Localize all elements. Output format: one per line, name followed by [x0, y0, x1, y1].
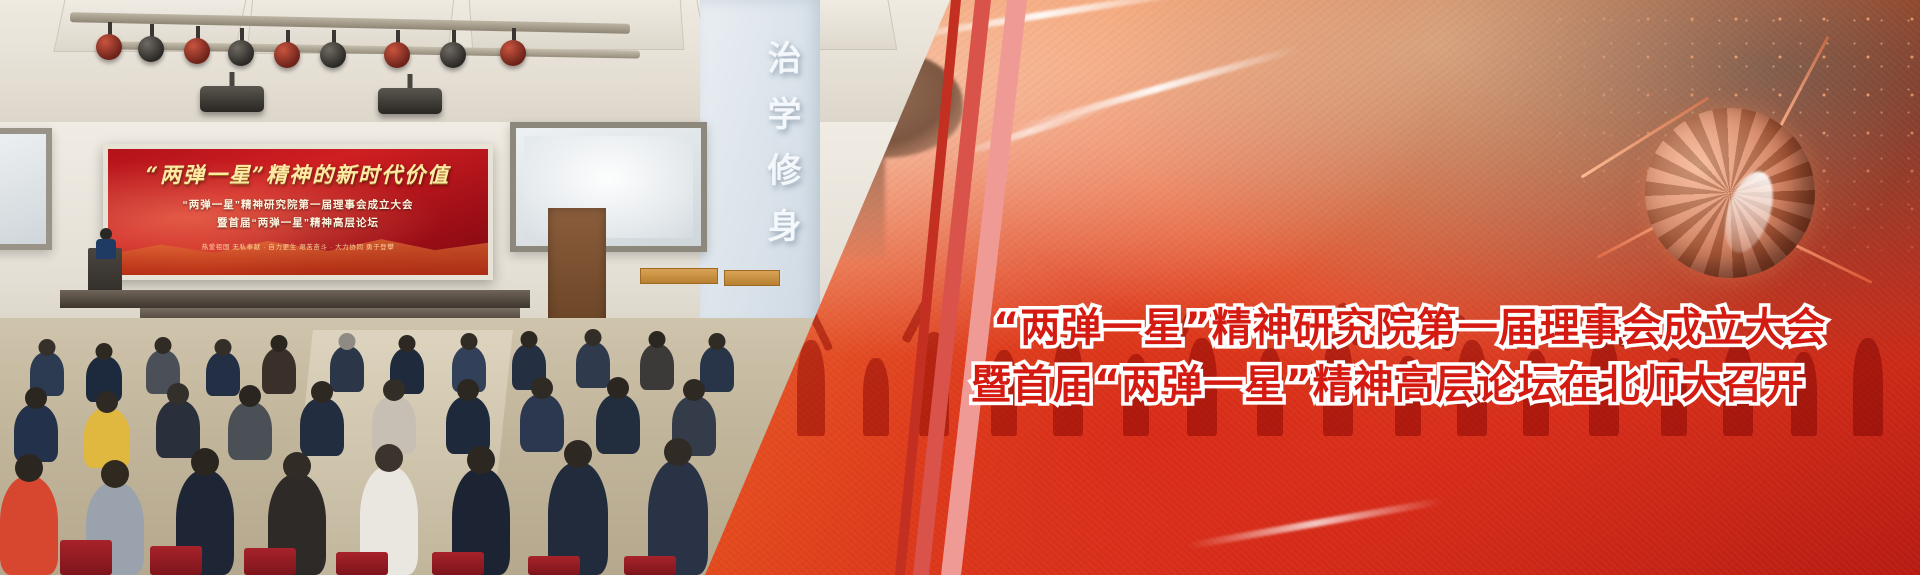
chair-icon — [336, 552, 388, 575]
person-head — [585, 329, 602, 346]
person-head — [155, 337, 172, 354]
audience-person — [640, 344, 674, 390]
stage-lamp-icon — [384, 42, 410, 68]
projection-screen-icon — [510, 122, 707, 252]
wall-calligraphy-text: 治学修身 — [714, 40, 806, 264]
person-head — [283, 452, 311, 480]
backdrop-slogan: 热爱祖国 无私奉献 · 自力更生 艰苦奋斗 · 大力协同 勇于登攀 — [108, 241, 488, 251]
person-head — [271, 335, 288, 352]
projector-icon — [378, 88, 442, 114]
person-head — [531, 377, 553, 399]
stage-lamp-icon — [228, 40, 254, 66]
person-head — [607, 377, 629, 399]
backdrop-title: “两弹一星”精神的新时代价值 — [108, 159, 488, 189]
wall-panel — [724, 270, 780, 286]
audience-person — [262, 348, 296, 394]
person-body — [96, 239, 116, 259]
audience-person — [228, 402, 272, 460]
audience-person — [520, 394, 564, 452]
person-head — [39, 339, 56, 356]
person-head — [457, 379, 479, 401]
headline-line-2: 暨首届“两弹一星”精神高层论坛在北师大召开 — [971, 357, 1908, 414]
audience-person — [0, 476, 58, 575]
person-head — [467, 446, 495, 474]
satellite-body — [1627, 90, 1833, 296]
person-head — [339, 333, 356, 350]
audience-person — [700, 346, 734, 392]
person-head — [25, 387, 47, 409]
person-head — [96, 391, 118, 413]
person-head — [101, 460, 129, 488]
head-table — [60, 290, 530, 308]
person-head — [564, 440, 592, 468]
backdrop-subtitle-1: “两弹一星”精神研究院第一届理事会成立大会 — [108, 197, 488, 212]
satellite-icon — [1610, 78, 1860, 308]
person-head — [399, 335, 416, 352]
door-icon — [548, 208, 606, 326]
person-head — [215, 339, 232, 356]
person-head — [375, 444, 403, 472]
audience-person — [576, 342, 610, 388]
stage-lamp-icon — [320, 42, 346, 68]
person-head — [239, 385, 261, 407]
projector-icon — [200, 86, 264, 112]
person-head — [709, 333, 726, 350]
person-head — [664, 438, 692, 466]
stage-lamp-icon — [274, 42, 300, 68]
news-hero-banner: 治学修身 “两弹一星”精神的新时代价值 “两弹一星”精神研究院第一届理事会成立大… — [0, 0, 1920, 575]
crowd-figure — [863, 358, 889, 436]
stage-lamp-icon — [440, 42, 466, 68]
stage-lamp-icon — [138, 36, 164, 62]
audience-person — [206, 352, 240, 396]
person-head — [521, 331, 538, 348]
audience-person — [300, 398, 344, 456]
audience-person — [330, 346, 364, 392]
projection-screen-icon — [0, 128, 52, 250]
audience-person — [14, 404, 58, 462]
poster-headline: “两弹一星”精神研究院第一届理事会成立大会 暨首届“两弹一星”精神高层论坛在北师… — [993, 300, 1908, 414]
person-head — [191, 448, 219, 476]
audience-person — [596, 394, 640, 454]
chair-icon — [624, 556, 676, 575]
person-head — [383, 379, 405, 401]
stage-lamp-icon — [184, 38, 210, 64]
wall-panel — [640, 268, 718, 284]
speaker-person-icon — [96, 228, 116, 258]
headline-line-1: “两弹一星”精神研究院第一届理事会成立大会 — [993, 300, 1908, 357]
stage-lamp-icon — [96, 34, 122, 60]
chair-icon — [528, 556, 580, 575]
person-head — [96, 343, 113, 360]
chair-icon — [60, 540, 112, 575]
person-head — [461, 333, 478, 350]
chair-icon — [150, 546, 202, 575]
stage-lamp-icon — [500, 40, 526, 66]
chair-icon — [432, 552, 484, 575]
crowd-figure — [797, 340, 825, 436]
stage-backdrop: “两弹一星”精神的新时代价值 “两弹一星”精神研究院第一届理事会成立大会 暨首届… — [103, 144, 493, 280]
person-head — [649, 331, 666, 348]
person-head — [167, 383, 189, 405]
backdrop-subtitle-2: 暨首届“两弹一星”精神高层论坛 — [108, 215, 488, 230]
person-head — [311, 381, 333, 403]
person-head — [15, 454, 43, 482]
chair-icon — [244, 548, 296, 575]
audience-person — [156, 400, 200, 458]
person-head — [683, 379, 705, 401]
audience-person — [84, 408, 130, 468]
